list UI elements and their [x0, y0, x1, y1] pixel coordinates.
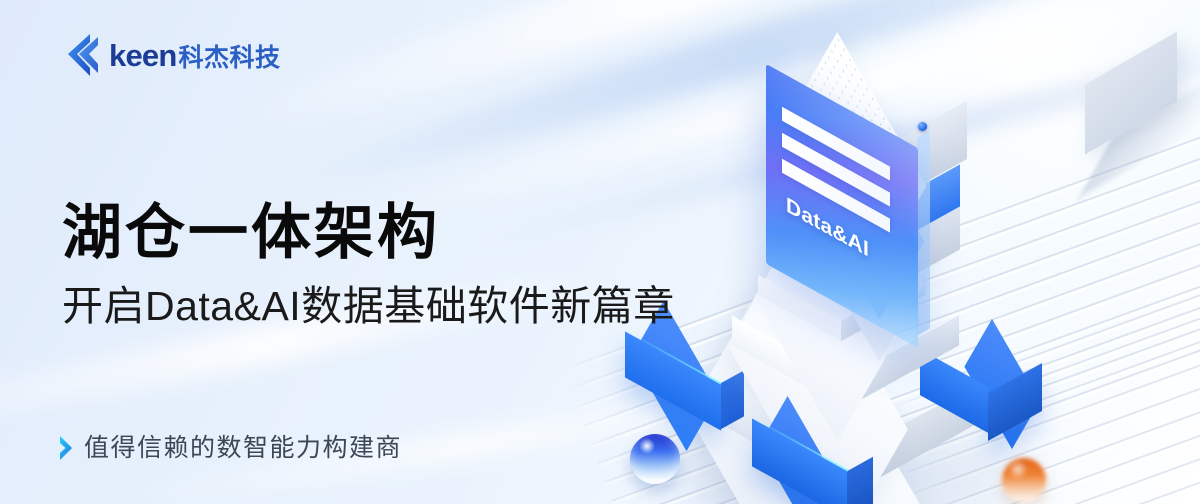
decorative-sphere-blue	[630, 434, 680, 484]
headline: 湖仓一体架构	[62, 201, 440, 266]
brand-logo[interactable]: keen 科杰科技	[60, 33, 280, 77]
tagline: 值得信赖的数智能力构建商	[58, 435, 402, 461]
keen-chevron-mark-icon	[60, 33, 100, 77]
card-label: Data&AI	[786, 193, 869, 263]
card-bar	[782, 133, 890, 207]
logo-cn-text: 科杰科技	[178, 46, 280, 71]
marketing-banner: Data&AI keen 科杰科技 湖仓一体架构 开启Data&AI数据基础软件…	[0, 0, 1200, 504]
chevron-right-icon	[58, 435, 73, 461]
card-bar	[782, 159, 890, 233]
tagline-text: 值得信赖的数智能力构建商	[84, 436, 402, 461]
glass-card-corner-dot-icon	[918, 122, 927, 131]
glass-card-right-edge	[917, 130, 930, 335]
isometric-illustration: Data&AI	[600, 20, 1200, 504]
logo-en-text: keen	[109, 40, 176, 71]
decorative-sphere-orange	[1002, 458, 1046, 502]
logo-wordmark: keen 科杰科技	[109, 40, 280, 71]
subheadline: 开启Data&AI数据基础软件新篇章	[62, 283, 675, 330]
